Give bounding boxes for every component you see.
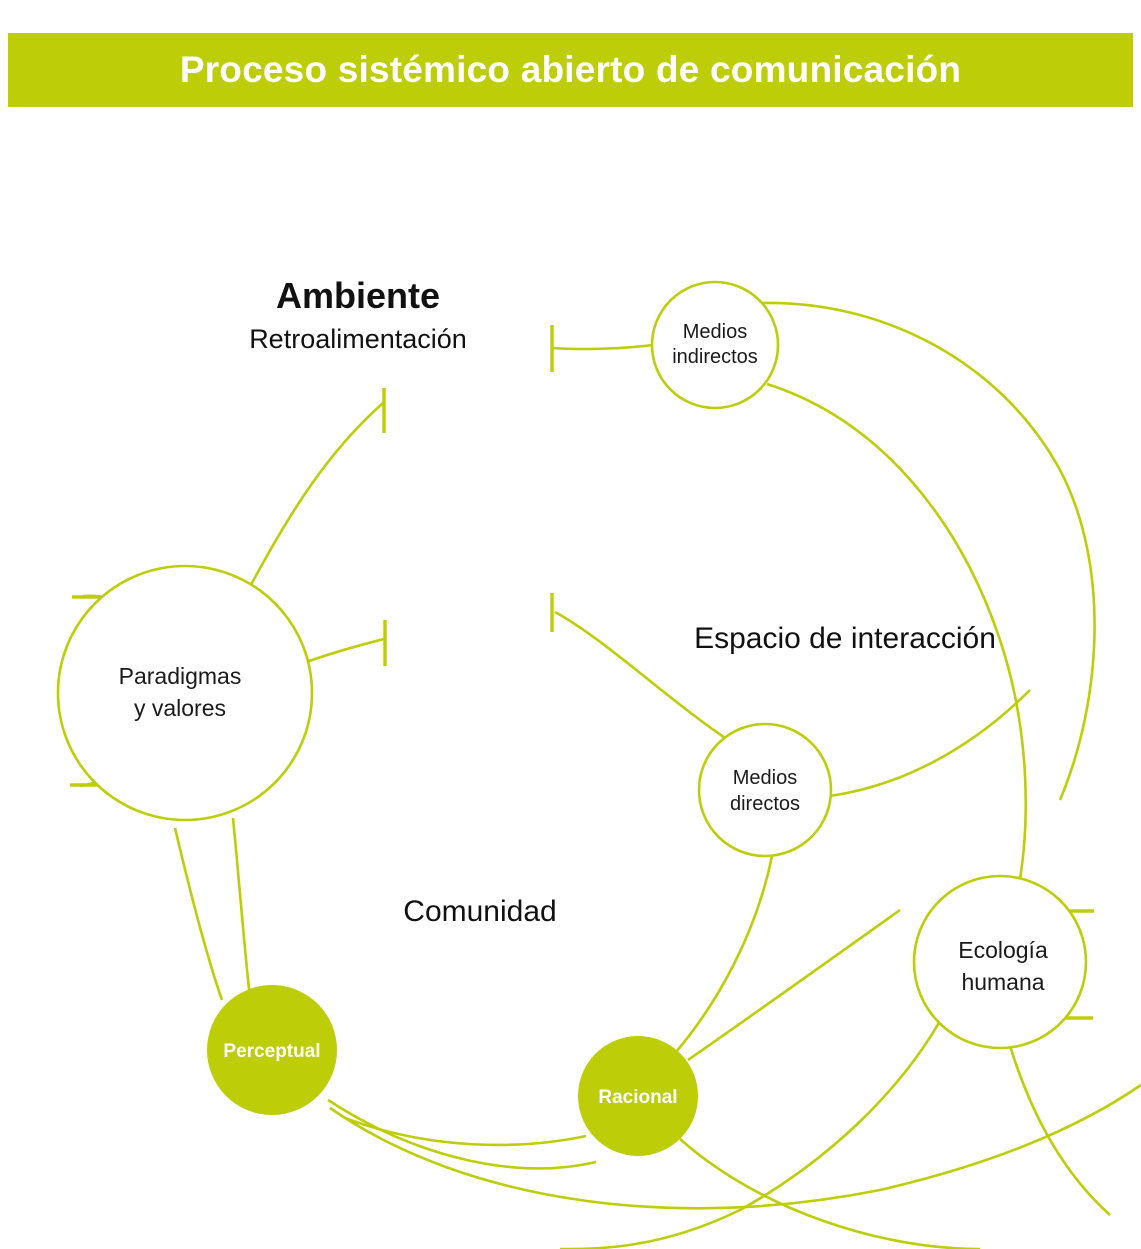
node-layer: Medios indirectos Paradigmas y valores M… [58,282,1086,1156]
node-ecologia-humana-label-line1: Ecología [958,937,1048,963]
node-racional-label: Racional [598,1087,677,1108]
node-medios-directos-label-line1: Medios [733,767,797,789]
node-medios-indirectos-circle[interactable] [652,282,778,408]
systemic-communication-diagram: Medios indirectos Paradigmas y valores M… [0,0,1141,1249]
connector-ambiente-feedback [243,403,383,600]
node-ecologia-humana-label-line2: humana [961,969,1044,995]
zone-label-layer: Ambiente Retroalimentación Espacio de in… [249,275,996,928]
node-medios-directos-circle[interactable] [699,724,831,856]
node-medios-directos[interactable]: Medios directos [699,724,831,856]
diagram-page: Proceso sistémico abierto de comunicació… [0,0,1141,1249]
node-medios-indirectos[interactable]: Medios indirectos [652,282,778,408]
connector-paradigmas-right [306,639,384,662]
connector-medios-directos-right [830,690,1030,796]
connector-medios-indirectos-left [553,345,653,349]
node-perceptual-label: Perceptual [223,1041,320,1062]
node-medios-indirectos-label-line2: indirectos [672,346,758,368]
connector-paradigmas-to-perceptual-a [175,828,222,1000]
node-ecologia-humana[interactable]: Ecología humana [914,876,1086,1048]
zone-label-espacio-de-interaccion: Espacio de interacción [694,622,996,655]
connector-indirectos-outer-sweep [761,303,1095,800]
connector-paradigmas-to-perceptual-b [233,818,250,998]
node-paradigmas-y-valores[interactable]: Paradigmas y valores [58,566,312,820]
connector-racional-left-incoming [345,1118,586,1145]
node-medios-indirectos-label-line1: Medios [683,321,747,343]
node-paradigmas-y-valores-label-line1: Paradigmas [119,663,242,689]
node-racional[interactable]: Racional [578,1036,698,1156]
node-paradigmas-y-valores-circle[interactable] [58,566,312,820]
connector-medios-directos-to-racional [676,856,772,1052]
connector-racional-bottom-right [680,1139,980,1249]
node-perceptual[interactable]: Perceptual [207,985,337,1115]
zone-label-comunidad: Comunidad [403,895,556,928]
connector-bottom-long-sweep [330,1085,1141,1208]
node-medios-directos-label-line2: directos [730,793,800,815]
connector-perceptual-to-racional [328,1100,596,1168]
zone-label-ambiente: Ambiente [276,275,440,316]
node-paradigmas-y-valores-label-line2: y valores [134,695,226,721]
connector-racional-upper-right [688,910,900,1060]
zone-label-retroalimentacion: Retroalimentación [249,324,467,354]
